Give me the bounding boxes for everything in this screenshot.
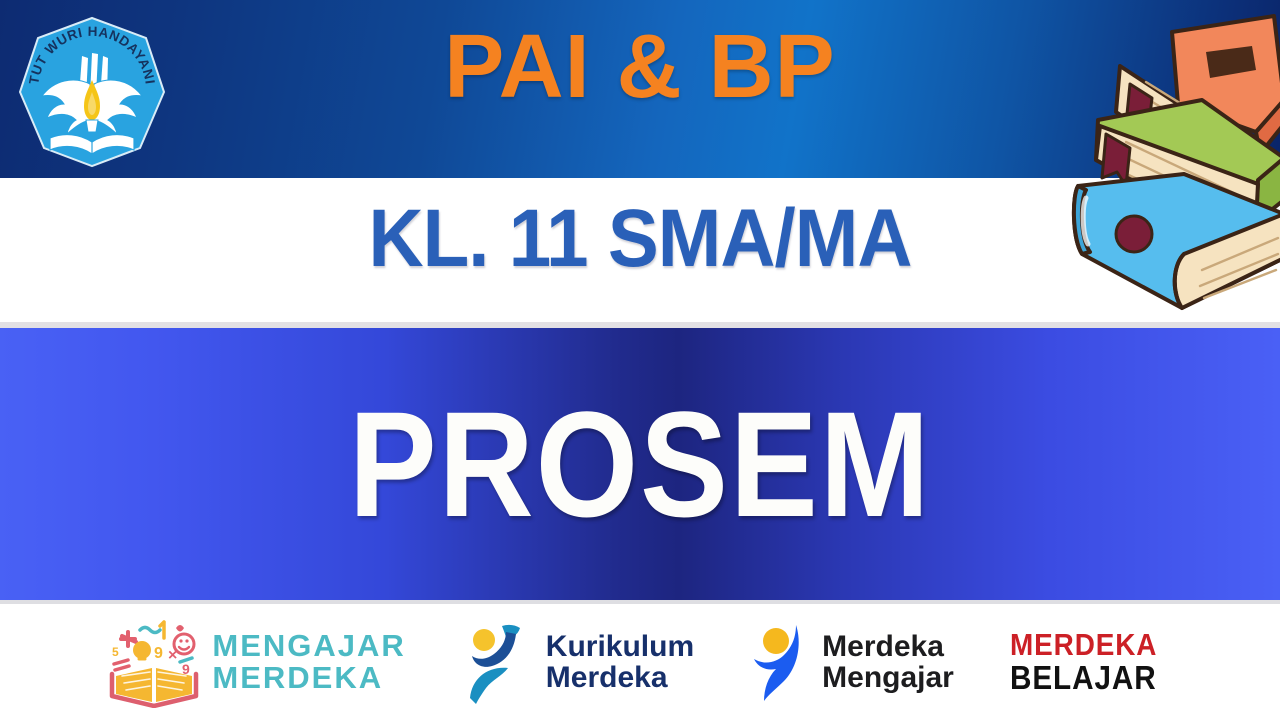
merdeka-belajar-line1: MERDEKA: [1010, 629, 1157, 661]
merdeka-belajar-logo[interactable]: MERDEKA BELAJAR: [1010, 629, 1174, 696]
mengajar-merdeka-line2: MERDEKA: [212, 662, 405, 694]
mengajar-merdeka-logo[interactable]: 9 × 5 9 MENGAJAR: [106, 616, 405, 708]
mengajar-merdeka-line1: MENGAJAR: [212, 630, 405, 662]
svg-text:×: ×: [168, 647, 177, 664]
svg-text:5: 5: [112, 645, 119, 659]
thumbnail-canvas: TUT WURI HANDAYANI PAI & BP KL. 11 SMA/M…: [0, 0, 1280, 720]
kurikulum-merdeka-logo[interactable]: Kurikulum Merdeka: [462, 618, 694, 706]
main-banner: PROSEM: [0, 328, 1280, 600]
merdeka-mengajar-line2: Mengajar: [822, 662, 954, 693]
kurikulum-merdeka-line1: Kurikulum: [546, 631, 694, 662]
footer-logo-bar: 9 × 5 9 MENGAJAR: [0, 604, 1280, 720]
open-book-with-symbols-icon: 9 × 5 9: [106, 616, 202, 708]
person-swoosh-icon: [462, 618, 536, 706]
banner-title: PROSEM: [77, 378, 1203, 551]
grade-level-text: KL. 11 SMA/MA: [45, 192, 1235, 286]
svg-text:9: 9: [154, 645, 163, 662]
merdeka-belajar-line2: BELAJAR: [1010, 661, 1157, 695]
merdeka-mengajar-logo[interactable]: Merdeka Mengajar: [750, 619, 954, 705]
stacked-books-icon: [1060, 8, 1280, 328]
person-wave-icon: [750, 619, 812, 705]
kurikulum-merdeka-line2: Merdeka: [546, 662, 694, 693]
merdeka-mengajar-line1: Merdeka: [822, 631, 954, 662]
